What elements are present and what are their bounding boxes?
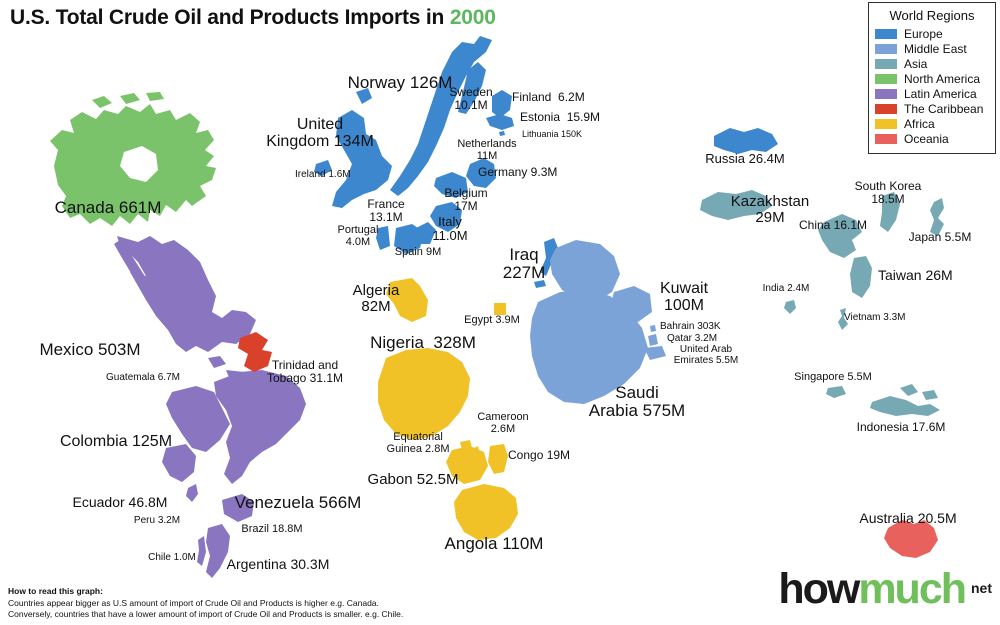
label-equatorial-guinea: Equatorial Guinea 2.8M	[387, 432, 450, 456]
footer-note: How to read this graph: Countries appear…	[8, 586, 403, 620]
label-uk: United Kingdom 134M	[266, 116, 374, 151]
label-finland: Finland 6.2M	[512, 91, 585, 104]
legend-swatch-oceania	[875, 134, 897, 144]
label-south-korea: South Korea 18.5M	[855, 180, 922, 206]
label-venezuela: Venezuela 566M	[235, 494, 362, 512]
label-algeria: Algeria 82M	[353, 283, 400, 315]
shape-canada-island-3	[146, 92, 164, 101]
legend-swatch-africa	[875, 119, 897, 129]
label-uae: United Arab Emirates 5.5M	[674, 345, 738, 367]
shape-indonesia-3	[922, 390, 938, 400]
legend-item-middle-east[interactable]: Middle East	[875, 42, 989, 56]
legend-item-europe[interactable]: Europe	[875, 27, 989, 41]
shape-uae	[644, 346, 666, 360]
shape-lithuania	[499, 131, 505, 136]
label-chile: Chile 1.0M	[148, 553, 196, 564]
shape-finland	[492, 90, 512, 118]
legend-label-asia: Asia	[904, 58, 927, 70]
map-shapes	[50, 36, 944, 578]
shape-canada-island-1	[92, 96, 112, 108]
legend-label-north-america: North America	[904, 73, 980, 85]
label-norway: Norway 126M	[348, 74, 453, 92]
label-angola: Angola 110M	[445, 535, 544, 553]
shape-estonia	[486, 114, 514, 130]
legend-label-europe: Europe	[904, 28, 943, 40]
label-lithuania: Lithuania 150K	[522, 130, 582, 140]
shape-qatar	[648, 334, 658, 346]
shape-canada-island-2	[120, 93, 140, 104]
label-sweden: Sweden 10.1M	[449, 86, 492, 112]
shape-chile	[197, 536, 206, 566]
legend-item-asia[interactable]: Asia	[875, 57, 989, 71]
legend-panel: World Regions Europe Middle East Asia No…	[868, 2, 996, 154]
label-taiwan: Taiwan 26M	[878, 268, 953, 283]
legend-item-north-america[interactable]: North America	[875, 72, 989, 86]
label-indonesia: Indonesia 17.6M	[857, 421, 946, 434]
label-colombia: Colombia 125M	[60, 433, 172, 450]
footer-line-2: Conversely, countries that have a lower …	[8, 609, 403, 620]
label-egypt: Egypt 3.9M	[464, 315, 520, 327]
label-ecuador: Ecuador 46.8M	[73, 495, 168, 510]
label-france: France 13.1M	[367, 198, 404, 224]
label-guatemala: Guatemala 6.7M	[106, 373, 180, 384]
label-netherlands: Netherlands 11M	[457, 139, 516, 163]
label-gabon: Gabon 52.5M	[368, 472, 459, 488]
legend-item-latin-america[interactable]: Latin America	[875, 87, 989, 101]
label-bahrain: Bahrain 303K	[660, 322, 721, 333]
footer-line-1: Countries appear bigger as U.S amount of…	[8, 598, 403, 609]
legend-item-africa[interactable]: Africa	[875, 117, 989, 131]
label-congo: Congo 19M	[508, 449, 570, 462]
label-portugal: Portugal 4.0M	[338, 225, 379, 249]
label-kazakhstan: Kazakhstan 29M	[731, 194, 809, 226]
shape-guatemala	[208, 356, 226, 368]
label-russia: Russia 26.4M	[705, 152, 784, 166]
label-ireland: Ireland 1.6M	[295, 170, 351, 181]
label-estonia: Estonia 15.9M	[520, 111, 600, 124]
label-nigeria: Nigeria 328M	[370, 334, 476, 352]
label-canada: Canada 661M	[55, 199, 162, 217]
legend-swatch-middle-east	[875, 44, 897, 54]
label-cameroon: Cameroon 2.6M	[477, 412, 528, 436]
label-italy: Italy 11.0M	[432, 215, 467, 243]
shape-nigeria	[378, 348, 470, 440]
legend-swatch-asia	[875, 59, 897, 69]
label-argentina: Argentina 30.3M	[227, 557, 330, 572]
legend-item-oceania[interactable]: Oceania	[875, 132, 989, 146]
label-belgium: Belgium 17M	[444, 187, 487, 213]
legend-item-the-caribbean[interactable]: The Caribbean	[875, 102, 989, 116]
label-kuwait: Kuwait 100M	[660, 280, 708, 315]
logo-net: net	[971, 581, 992, 595]
legend-title: World Regions	[875, 8, 989, 23]
shape-singapore	[826, 386, 846, 398]
label-mexico: Mexico 503M	[39, 341, 140, 359]
shape-peru	[186, 484, 198, 502]
shape-india	[784, 300, 796, 314]
label-iraq: Iraq 227M	[503, 246, 546, 283]
howmuch-logo[interactable]: howmuchnet	[778, 568, 992, 611]
shape-indonesia-2	[900, 384, 918, 396]
legend-label-the-caribbean: The Caribbean	[904, 103, 983, 115]
label-spain: Spain 9M	[395, 247, 441, 259]
label-singapore: Singapore 5.5M	[794, 372, 872, 384]
label-china: China 16.1M	[799, 219, 867, 232]
legend-swatch-europe	[875, 29, 897, 39]
legend-swatch-north-america	[875, 74, 897, 84]
infographic-canvas: U.S. Total Crude Oil and Products Import…	[0, 0, 1000, 625]
label-vietnam: Vietnam 3.3M	[844, 313, 906, 324]
legend-label-latin-america: Latin America	[904, 88, 977, 100]
shape-taiwan	[850, 256, 872, 298]
label-trinidad-tobago: Trinidad and Tobago 31.1M	[267, 359, 343, 385]
legend-label-africa: Africa	[904, 118, 935, 130]
shape-congo	[488, 444, 508, 474]
logo-how: how	[778, 568, 858, 611]
logo-much: much	[858, 568, 965, 611]
label-germany: Germany 9.3M	[478, 166, 557, 179]
legend-swatch-the-caribbean	[875, 104, 897, 114]
legend-label-middle-east: Middle East	[904, 43, 967, 55]
footer-heading: How to read this graph:	[8, 586, 403, 597]
label-india: India 2.4M	[763, 284, 810, 295]
shape-bahrain	[650, 325, 656, 332]
shape-mexico	[117, 236, 256, 352]
legend-label-oceania: Oceania	[904, 133, 949, 145]
legend-swatch-latin-america	[875, 89, 897, 99]
label-brazil: Brazil 18.8M	[241, 524, 302, 536]
label-japan: Japan 5.5M	[909, 231, 972, 244]
label-peru: Peru 3.2M	[134, 516, 180, 527]
label-australia: Australia 20.5M	[859, 511, 956, 526]
label-saudi-arabia: Saudi Arabia 575M	[589, 384, 685, 421]
shape-angola	[454, 484, 518, 540]
